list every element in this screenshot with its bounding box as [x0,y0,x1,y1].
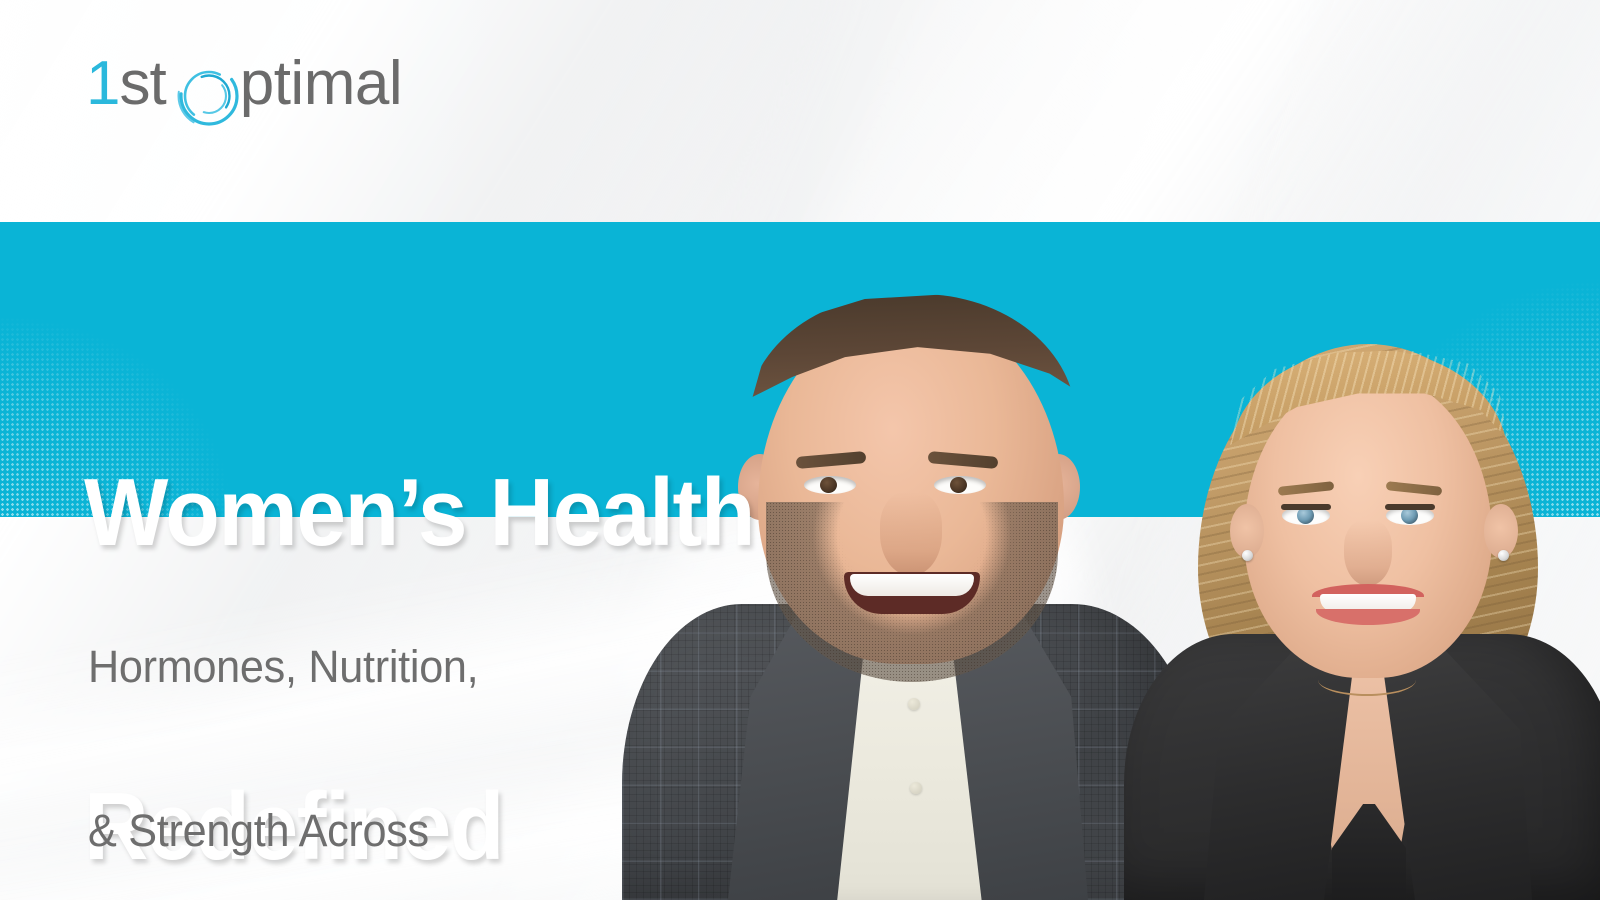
man-teeth [850,574,974,596]
shirt-button [910,782,922,794]
subtitle-line-2: & Strength Across [88,804,478,859]
subtitle: Hormones, Nutrition, & Strength Across t… [88,530,478,900]
logo-prefix: 1st [86,53,166,115]
man-nose [880,492,942,576]
woman-mouth [1312,584,1424,626]
broken-ring-o-icon [172,59,246,133]
woman-earring-right [1498,550,1509,561]
woman-eyelash-right [1385,504,1435,510]
logo-ordinal-suffix: st [119,49,165,118]
brand-logo: 1st ptimal [86,53,402,131]
logo-wordmark: ptimal [240,53,402,115]
woman-eyelash-left [1281,504,1331,510]
man-eye-right [934,476,986,494]
shirt-button [908,698,920,710]
woman-earring-left [1242,550,1253,561]
woman-lower-lip [1316,609,1420,625]
female-presenter-photo [1118,334,1600,900]
subtitle-line-1: Hormones, Nutrition, [88,640,478,695]
man-mouth [844,572,980,614]
logo-numeral: 1 [86,49,119,118]
woman-nose [1344,520,1392,586]
presentation-slide: 1st ptimal Women’s Health Redefined Horm… [0,0,1600,900]
man-eye-left [804,476,856,494]
